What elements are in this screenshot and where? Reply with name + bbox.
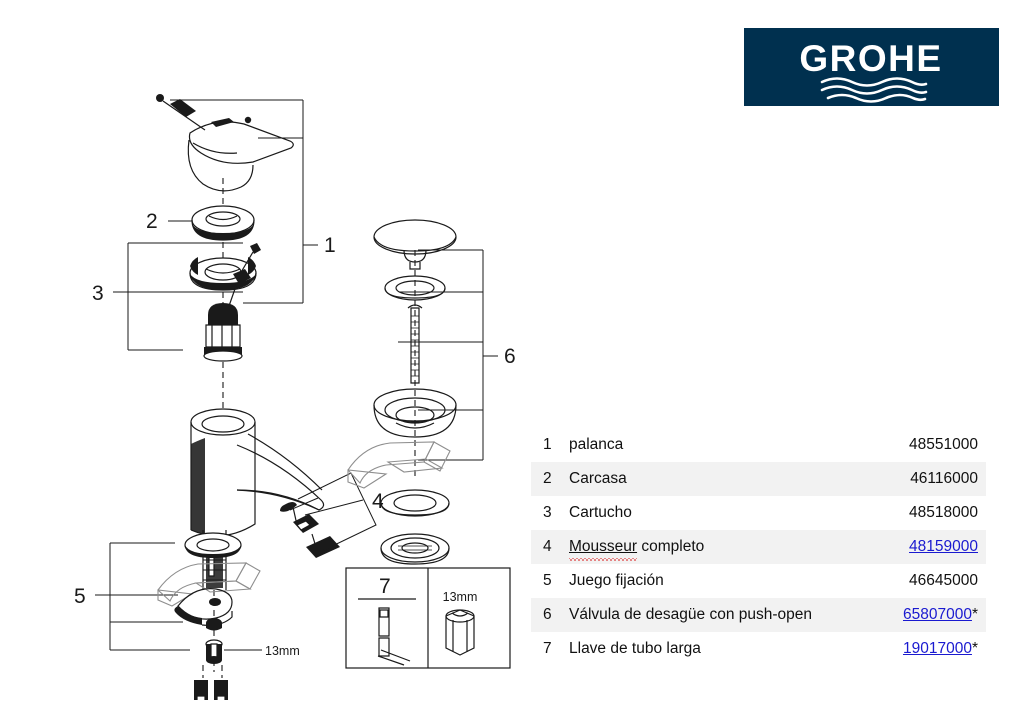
row-position: 6 [531, 606, 569, 624]
lever-handle-part [156, 94, 293, 191]
exploded-parts-diagram: .ln { fill:none; stroke:#1a1a1a; stroke-… [0, 60, 540, 700]
callout-label-3: 3 [92, 282, 104, 305]
row-position: 4 [531, 538, 569, 556]
table-row: 6 Válvula de desagüe con push-open 65807… [531, 598, 986, 632]
row-description-rest: completo [637, 538, 704, 555]
mounting-bracket-5 [95, 543, 190, 650]
row-part-number-link[interactable]: 48159000 [856, 538, 986, 556]
mounting-plate-part [174, 589, 232, 626]
grohe-wordmark: GROHE [799, 38, 942, 79]
star-marker: * [972, 606, 978, 623]
callout-label-2: 2 [146, 210, 158, 233]
callout-label-5: 5 [74, 585, 86, 608]
row-description: Cartucho [569, 504, 856, 522]
row-part-number: 46116000 [856, 470, 986, 488]
diagram-artwork: .ln { fill:none; stroke:#1a1a1a; stroke-… [0, 60, 540, 700]
parts-list-table: 1 palanca 48551000 2 Carcasa 46116000 3 … [531, 428, 986, 666]
callout-label-6: 6 [504, 345, 516, 368]
callout-label-1: 1 [324, 234, 336, 257]
row-description: Llave de tubo larga [569, 640, 856, 658]
cap-part [192, 206, 254, 240]
row-description: Válvula de desagüe con push-open [569, 606, 856, 624]
table-row: 7 Llave de tubo larga 19017000* [531, 632, 986, 666]
grohe-logo-artwork: GROHE [744, 28, 999, 106]
grohe-waves-icon [822, 79, 926, 102]
tool-size-label: 13mm [443, 590, 478, 604]
cartridge-part [204, 303, 242, 361]
tool-box-index: 7 [379, 575, 391, 598]
table-row: 3 Cartucho 48518000 [531, 496, 986, 530]
part-number-value: 19017000 [903, 640, 972, 657]
mounting-nut-part [206, 618, 222, 631]
hex-socket-icon [446, 610, 474, 655]
tool-box-7: 7 13mm [346, 568, 510, 668]
drain-nut-part [381, 534, 449, 564]
table-row: 2 Carcasa 46116000 [531, 462, 986, 496]
table-row: 4 Mousseur completo 48159000 [531, 530, 986, 564]
row-position: 7 [531, 640, 569, 658]
mousseur-part [280, 473, 376, 558]
part-number-value: 48159000 [909, 538, 978, 555]
row-part-number: 46645000 [856, 572, 986, 590]
mounting-sleeve-part [206, 640, 222, 664]
push-open-cap-part [374, 220, 456, 269]
part-number-value: 65807000 [903, 606, 972, 623]
table-row: 5 Juego fijación 46645000 [531, 564, 986, 598]
grohe-logo: GROHE [744, 28, 999, 106]
row-position: 1 [531, 436, 569, 454]
row-position: 2 [531, 470, 569, 488]
row-position: 3 [531, 504, 569, 522]
table-row: 1 palanca 48551000 [531, 428, 986, 462]
mounting-washer-part [185, 533, 241, 558]
star-marker: * [972, 640, 978, 657]
row-part-number: 48518000 [856, 504, 986, 522]
callout-label-4: 4 [372, 490, 384, 513]
drain-seal-part [385, 276, 445, 300]
row-description: Juego fijación [569, 572, 856, 590]
drain-gasket-part [381, 490, 449, 516]
row-part-number-link[interactable]: 19017000* [856, 640, 986, 658]
misspelled-word: Mousseur [569, 538, 637, 556]
row-description: palanca [569, 436, 856, 454]
row-description: Carcasa [569, 470, 856, 488]
threaded-studs-part [183, 665, 236, 700]
row-position: 5 [531, 572, 569, 590]
sink-basin-ghost [348, 442, 450, 488]
wrench-size-label: 13mm [265, 644, 300, 658]
row-part-number-link[interactable]: 65807000* [856, 606, 986, 624]
row-part-number: 48551000 [856, 436, 986, 454]
row-description: Mousseur completo [569, 538, 856, 556]
